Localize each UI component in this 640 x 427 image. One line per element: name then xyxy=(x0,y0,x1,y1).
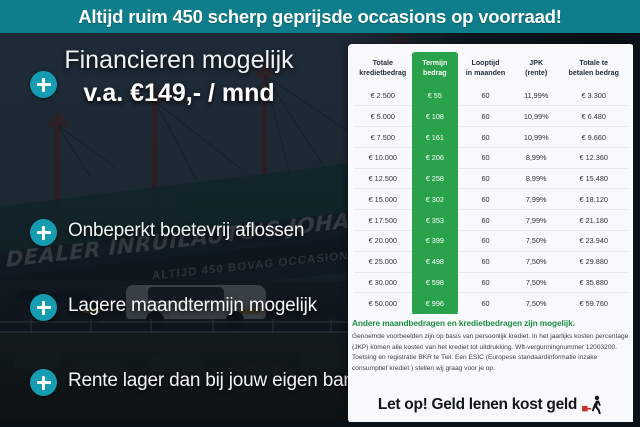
promo-bullet-2: Lagere maandtermijn mogelijk xyxy=(68,295,317,317)
table-cell: € 35.880 xyxy=(559,272,628,293)
table-cell: 60 xyxy=(458,251,513,272)
table-cell: € 12.500 xyxy=(354,168,412,189)
table-cell: 60 xyxy=(458,106,513,127)
table-row: € 7.500€ 1616010,99%€ 9.660 xyxy=(354,127,628,148)
table-cell: € 3.300 xyxy=(559,86,628,106)
frame-edge-right xyxy=(633,33,640,427)
plus-icon xyxy=(30,294,57,321)
col-header-duration: Looptijd in maanden xyxy=(458,52,513,86)
disclaimer-title: Andere maandbedragen en kredietbedragen … xyxy=(352,318,630,328)
table-cell: € 18.120 xyxy=(559,189,628,210)
table-header-row: Totale kredietbedrag Termijn bedrag Loop… xyxy=(354,52,628,86)
table-cell: € 55 xyxy=(412,86,459,106)
table-cell: 11,99% xyxy=(513,86,560,106)
plus-icon xyxy=(30,219,57,246)
promo-headline-line1: Financieren mogelijk xyxy=(18,47,340,75)
table-cell: 60 xyxy=(458,189,513,210)
table-row: € 2.500€ 556011,99%€ 3.300 xyxy=(354,86,628,106)
table-row: € 20.000€ 399607,50%€ 23.940 xyxy=(354,231,628,252)
table-cell: € 161 xyxy=(412,127,459,148)
table-body: € 2.500€ 556011,99%€ 3.300€ 5.000€ 10860… xyxy=(354,86,628,314)
table-cell: 7,50% xyxy=(513,272,560,293)
table-cell: € 498 xyxy=(412,251,459,272)
table-cell: € 30.000 xyxy=(354,272,412,293)
table-cell: 60 xyxy=(458,168,513,189)
table-cell: € 21.180 xyxy=(559,210,628,231)
col-header-total-payable: Totale te betalen bedrag xyxy=(559,52,628,86)
plus-icon xyxy=(30,369,57,396)
table-cell: € 2.500 xyxy=(354,86,412,106)
table-cell: € 15.000 xyxy=(354,189,412,210)
promo-bullet-3: Rente lager dan bij jouw eigen bank xyxy=(68,370,363,392)
table-row: € 5.000€ 1086010,99%€ 6.480 xyxy=(354,106,628,127)
top-banner-text: Altijd ruim 450 scherp geprijsde occasio… xyxy=(78,6,562,28)
table-row: € 15.000€ 302607,99%€ 18.120 xyxy=(354,189,628,210)
table-cell: 60 xyxy=(458,127,513,148)
table-cell: 60 xyxy=(458,293,513,314)
table-cell: € 9.660 xyxy=(559,127,628,148)
disclaimer-body: Genoemde voorbeelden zijn op basis van p… xyxy=(352,332,630,375)
walking-man-icon xyxy=(582,395,604,415)
table-cell: 8,99% xyxy=(513,168,560,189)
table-cell: 10,99% xyxy=(513,106,560,127)
table-cell: 8,99% xyxy=(513,147,560,168)
table-row: € 30.000€ 598607,50%€ 35.880 xyxy=(354,272,628,293)
table-cell: € 12.360 xyxy=(559,147,628,168)
promo-bullet-1: Onbeperkt boetevrij aflossen xyxy=(68,220,304,242)
credit-warning-strip: Let op! Geld lenen kost geld xyxy=(348,391,634,419)
table-cell: 7,50% xyxy=(513,251,560,272)
table-cell: 60 xyxy=(458,231,513,252)
table-cell: € 20.000 xyxy=(354,231,412,252)
table-cell: € 29.880 xyxy=(559,251,628,272)
promo-headline: Financieren mogelijk v.a. €149,- / mnd xyxy=(18,47,340,109)
table-cell: € 6.480 xyxy=(559,106,628,127)
table-row: € 10.000€ 206608,99%€ 12.360 xyxy=(354,147,628,168)
table-cell: 7,50% xyxy=(513,293,560,314)
table-cell: € 258 xyxy=(412,168,459,189)
table-cell: 60 xyxy=(458,147,513,168)
table-row: € 25.000€ 498607,50%€ 29.880 xyxy=(354,251,628,272)
table-cell: 7,99% xyxy=(513,189,560,210)
table-cell: 10,99% xyxy=(513,127,560,148)
table-cell: € 23.940 xyxy=(559,231,628,252)
table-cell: € 302 xyxy=(412,189,459,210)
table-cell: € 25.000 xyxy=(354,251,412,272)
table-cell: € 5.000 xyxy=(354,106,412,127)
table-cell: € 7.500 xyxy=(354,127,412,148)
table-cell: € 996 xyxy=(412,293,459,314)
promo-headline-line2: v.a. €149,- / mnd xyxy=(18,78,340,109)
col-header-jkp: JPK (rente) xyxy=(513,52,560,86)
table-cell: € 17.500 xyxy=(354,210,412,231)
table-cell: 7,50% xyxy=(513,231,560,252)
promo-left-column: Financieren mogelijk v.a. €149,- / mnd O… xyxy=(0,33,348,427)
table-cell: € 399 xyxy=(412,231,459,252)
finance-rate-table: Totale kredietbedrag Termijn bedrag Loop… xyxy=(354,52,628,314)
disclaimer-block: Andere maandbedragen en kredietbedragen … xyxy=(352,318,630,375)
table-cell: € 10.000 xyxy=(354,147,412,168)
table-cell: € 353 xyxy=(412,210,459,231)
table-cell: € 598 xyxy=(412,272,459,293)
table-row: € 17.500€ 353607,99%€ 21.180 xyxy=(354,210,628,231)
table-cell: 60 xyxy=(458,86,513,106)
top-banner-bar: Altijd ruim 450 scherp geprijsde occasio… xyxy=(0,0,640,33)
frame-edge-bottom xyxy=(0,422,640,427)
finance-promo-banner: Altijd ruim 450 scherp geprijsde occasio… xyxy=(0,0,640,427)
col-header-term-amount: Termijn bedrag xyxy=(412,52,459,86)
table-cell: 7,99% xyxy=(513,210,560,231)
table-row: € 12.500€ 258608,99%€ 15.480 xyxy=(354,168,628,189)
table-cell: € 206 xyxy=(412,147,459,168)
table-cell: 60 xyxy=(458,210,513,231)
col-header-total-credit: Totale kredietbedrag xyxy=(354,52,412,86)
table-cell: € 50.000 xyxy=(354,293,412,314)
table-cell: 60 xyxy=(458,272,513,293)
table-cell: € 108 xyxy=(412,106,459,127)
table-row: € 50.000€ 996607,50%€ 59.760 xyxy=(354,293,628,314)
credit-warning-text: Let op! Geld lenen kost geld xyxy=(378,396,577,414)
table-cell: € 15.480 xyxy=(559,168,628,189)
table-cell: € 59.760 xyxy=(559,293,628,314)
